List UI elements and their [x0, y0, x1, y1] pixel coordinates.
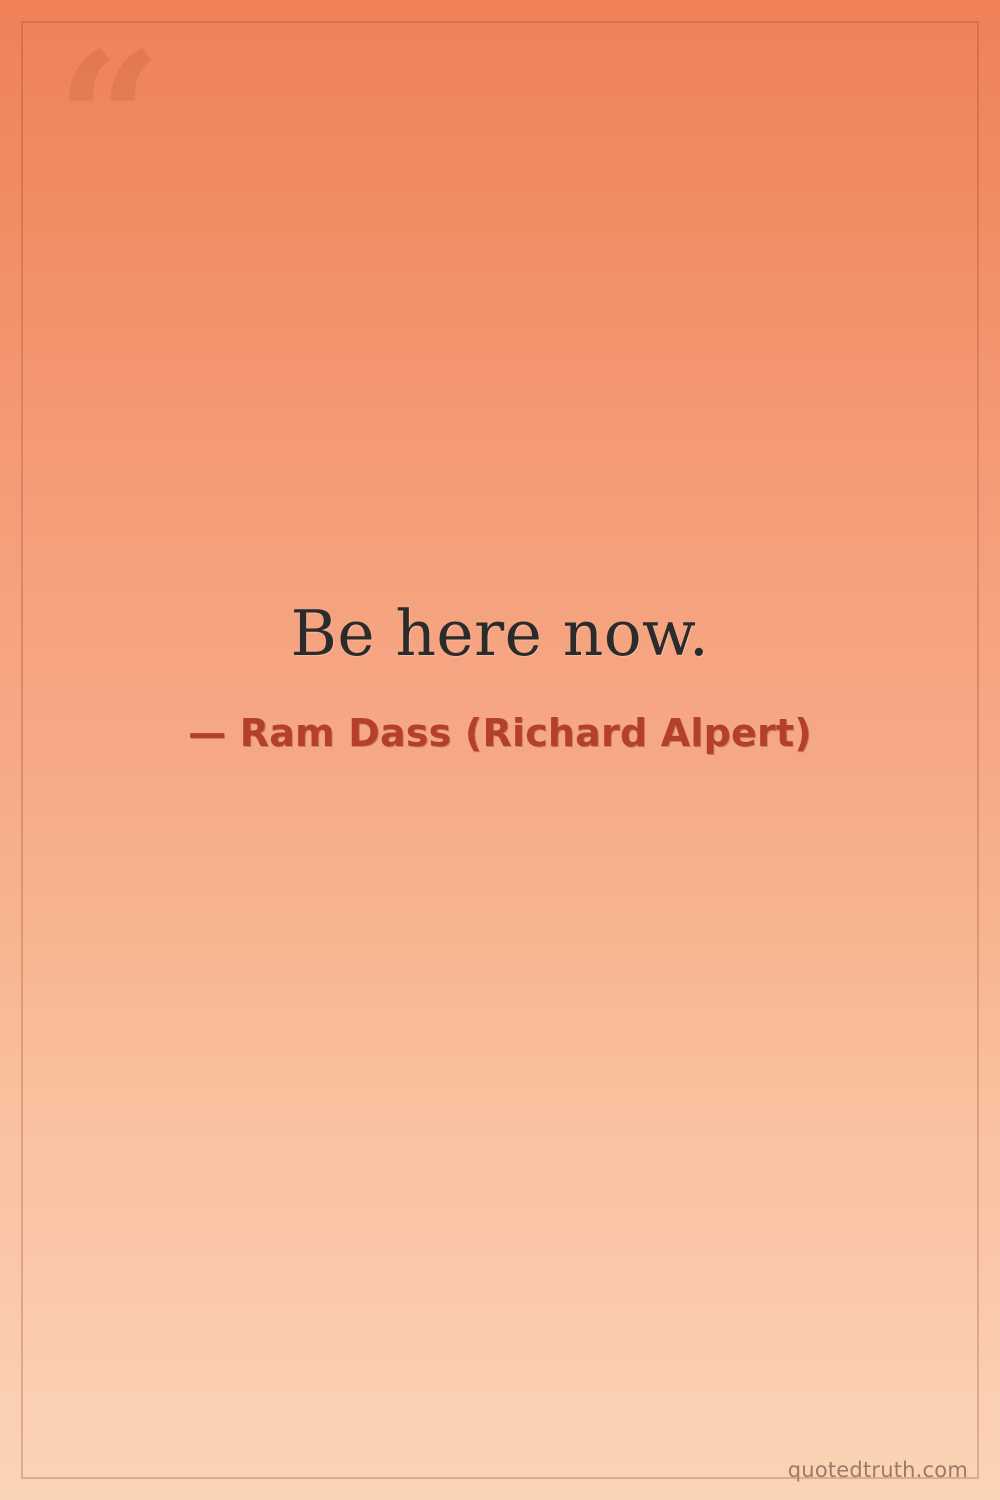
decorative-quotation-mark-icon: “	[56, 28, 160, 213]
site-watermark: quotedtruth.com	[788, 1458, 968, 1482]
quote-card: “ Be here now. — Ram Dass (Richard Alper…	[0, 0, 1000, 1500]
quote-content-block: Be here now. — Ram Dass (Richard Alpert)	[0, 596, 1000, 755]
quote-attribution: — Ram Dass (Richard Alpert)	[188, 711, 812, 755]
quote-text: Be here now.	[291, 596, 710, 673]
